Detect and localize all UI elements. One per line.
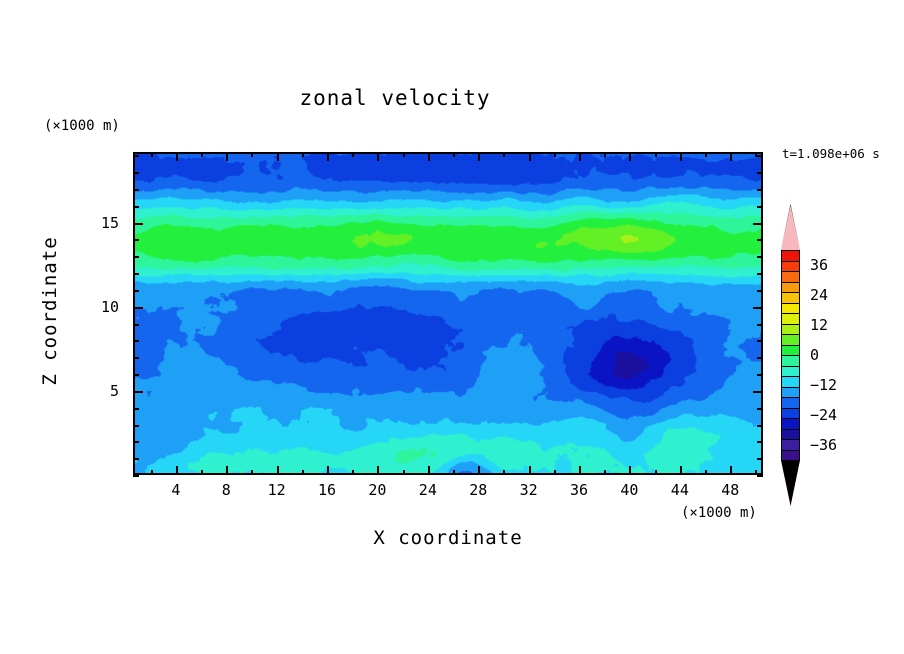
x-tick-label: 8 [206, 481, 246, 499]
x-tick-label: 24 [408, 481, 448, 499]
colorbar-band [781, 345, 800, 357]
x-tick-label: 20 [357, 481, 397, 499]
colorbar-band [781, 429, 800, 441]
y-axis-unit-label: (×1000 m) [44, 118, 120, 134]
x-tick-label: 36 [559, 481, 599, 499]
colorbar-band [781, 366, 800, 378]
colorbar-band [781, 387, 800, 399]
y-tick [133, 475, 139, 477]
colorbar-band [781, 439, 800, 451]
colorbar-band [781, 324, 800, 336]
colorbar-tick-label: −12 [810, 376, 837, 394]
colorbar-band [781, 450, 800, 462]
time-annotation: t=1.098e+06 s [782, 146, 880, 161]
colorbar-band [781, 355, 800, 367]
colorbar [781, 250, 800, 460]
y-axis-title: Z coordinate [39, 221, 61, 401]
chart-title: zonal velocity [0, 86, 790, 110]
x-axis-unit-label: (×1000 m) [681, 505, 757, 521]
colorbar-tick-label: 24 [810, 286, 828, 304]
y-tick-right [757, 475, 763, 477]
colorbar-band [781, 292, 800, 304]
y-tick-label: 5 [79, 382, 119, 400]
colorbar-band [781, 282, 800, 294]
colorbar-band [781, 334, 800, 346]
colorbar-band [781, 261, 800, 273]
colorbar-under-arrow [781, 460, 800, 506]
x-tick-label: 16 [307, 481, 347, 499]
colorbar-band [781, 408, 800, 420]
x-tick-label: 12 [257, 481, 297, 499]
colorbar-band [781, 250, 800, 262]
y-tick-label: 10 [79, 298, 119, 316]
colorbar-over-arrow [781, 204, 800, 250]
x-tick-label: 48 [710, 481, 750, 499]
x-axis-title: X coordinate [133, 527, 763, 549]
x-tick-label: 40 [609, 481, 649, 499]
x-tick-label: 4 [156, 481, 196, 499]
colorbar-tick-label: −24 [810, 406, 837, 424]
colorbar-band [781, 397, 800, 409]
x-tick-label: 44 [660, 481, 700, 499]
colorbar-band [781, 418, 800, 430]
y-tick-label: 15 [79, 214, 119, 232]
colorbar-band [781, 376, 800, 388]
x-tick-label: 32 [509, 481, 549, 499]
colorbar-tick-label: 12 [810, 316, 828, 334]
colorbar-band [781, 303, 800, 315]
contour-plot-area [133, 152, 763, 475]
colorbar-tick-label: −36 [810, 436, 837, 454]
colorbar-tick-label: 0 [810, 346, 819, 364]
colorbar-band [781, 313, 800, 325]
colorbar-band [781, 271, 800, 283]
contour-field [135, 154, 761, 473]
colorbar-tick-label: 36 [810, 256, 828, 274]
x-tick-label: 28 [458, 481, 498, 499]
